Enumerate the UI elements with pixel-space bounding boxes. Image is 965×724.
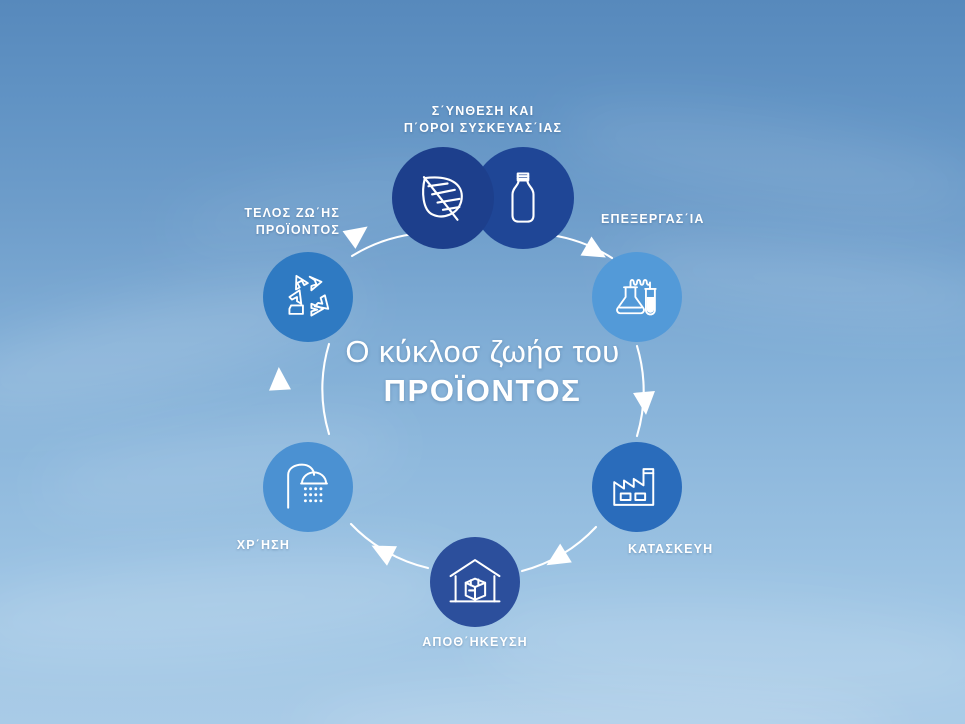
recycle-icon: [281, 271, 335, 323]
node-end-of-life[interactable]: [263, 252, 353, 342]
label-end-of-life: ΤΕΛΟΣ ΖΩ΄ΗΣ ΠΡΟΪΟΝΤΟΣ: [100, 205, 340, 238]
label-synthesis: Σ΄ΥΝΘΕΣΗ ΚΑΙ Π΄ΟΡΟΙ ΣΥΣΚΕΥΑΣ΄ΙΑΣ: [353, 103, 613, 136]
node-storage[interactable]: [430, 537, 520, 627]
factory-icon: [611, 463, 663, 511]
label-use: ΧΡ΄ΗΣΗ: [100, 537, 290, 554]
center-title-line1: Ο κύκλοσ ζωήσ του: [0, 333, 965, 371]
leaf-icon: [414, 169, 472, 227]
label-storage: ΑΠΟΘ΄ΗΚΕΥΣΗ: [375, 634, 575, 651]
node-manufacturing[interactable]: [592, 442, 682, 532]
center-title-line2: ΠΡΟΪΟΝΤΟΣ: [0, 371, 965, 411]
node-processing[interactable]: [592, 252, 682, 342]
arrowhead-4: [367, 536, 397, 566]
bottle-icon: [497, 170, 549, 226]
warehouse-box-icon: [448, 557, 502, 607]
arrowhead-6: [343, 218, 375, 249]
arrowhead-3: [541, 544, 572, 575]
node-use[interactable]: [263, 442, 353, 532]
arrow-path-4: [351, 524, 428, 568]
center-title: Ο κύκλοσ ζωήσ του ΠΡΟΪΟΝΤΟΣ: [0, 333, 965, 411]
node-synthesis-leaf[interactable]: [392, 147, 494, 249]
flask-testtube-icon: [611, 271, 663, 323]
label-processing: ΕΠΕΞΕΡΓΑΣ΄ΙΑ: [601, 211, 781, 228]
label-manufacturing: ΚΑΤΑΣΚΕΥΗ: [628, 541, 808, 558]
product-lifecycle-infographic: Σ΄ΥΝΘΕΣΗ ΚΑΙ Π΄ΟΡΟΙ ΣΥΣΚΕΥΑΣ΄ΙΑΣ ΕΠΕΞΕΡΓ…: [0, 0, 965, 724]
shower-icon: [283, 461, 333, 513]
